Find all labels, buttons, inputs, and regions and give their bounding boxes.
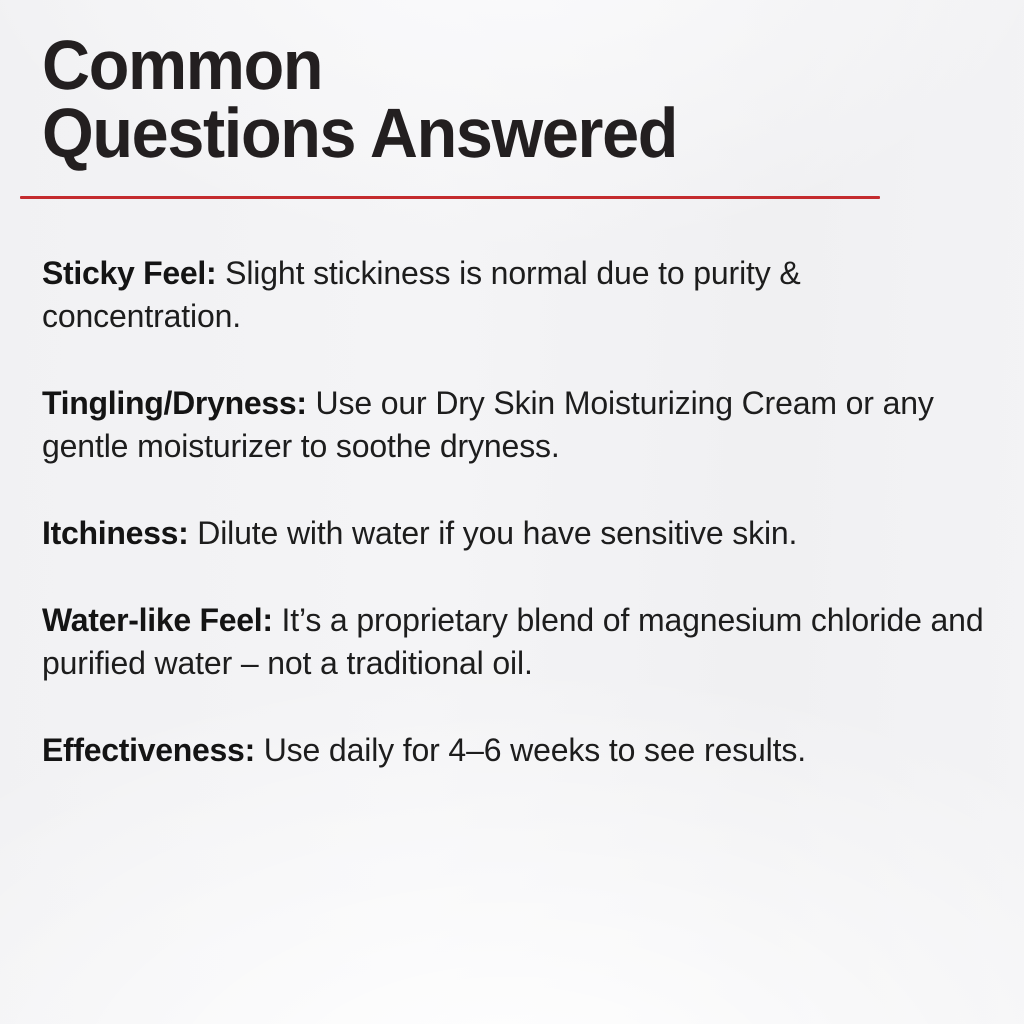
faq-list: Sticky Feel: Slight stickiness is normal… bbox=[42, 252, 1017, 772]
faq-term: Water-like Feel: bbox=[42, 602, 273, 638]
faq-answer: Dilute with water if you have sensitive … bbox=[188, 515, 797, 551]
faq-item-sticky-feel: Sticky Feel: Slight stickiness is normal… bbox=[42, 252, 1002, 338]
page-title-line-1: Common bbox=[42, 32, 935, 98]
faq-card: Common Questions Answered Sticky Feel: S… bbox=[0, 0, 1024, 1024]
faq-answer: Use daily for 4–6 weeks to see results. bbox=[255, 732, 806, 768]
faq-item-tingling-dryness: Tingling/Dryness: Use our Dry Skin Moist… bbox=[42, 382, 1002, 468]
faq-term: Effectiveness: bbox=[42, 732, 255, 768]
faq-term: Itchiness: bbox=[42, 515, 188, 551]
page-title: Common Questions Answered bbox=[42, 32, 982, 166]
title-divider-rule bbox=[20, 196, 880, 199]
faq-term: Tingling/Dryness: bbox=[42, 385, 307, 421]
faq-item-effectiveness: Effectiveness: Use daily for 4–6 weeks t… bbox=[42, 729, 1002, 772]
faq-item-itchiness: Itchiness: Dilute with water if you have… bbox=[42, 512, 1002, 555]
faq-item-water-like-feel: Water-like Feel: It’s a proprietary blen… bbox=[42, 599, 1002, 685]
page-title-line-2: Questions Answered bbox=[42, 100, 935, 166]
faq-term: Sticky Feel: bbox=[42, 255, 216, 291]
